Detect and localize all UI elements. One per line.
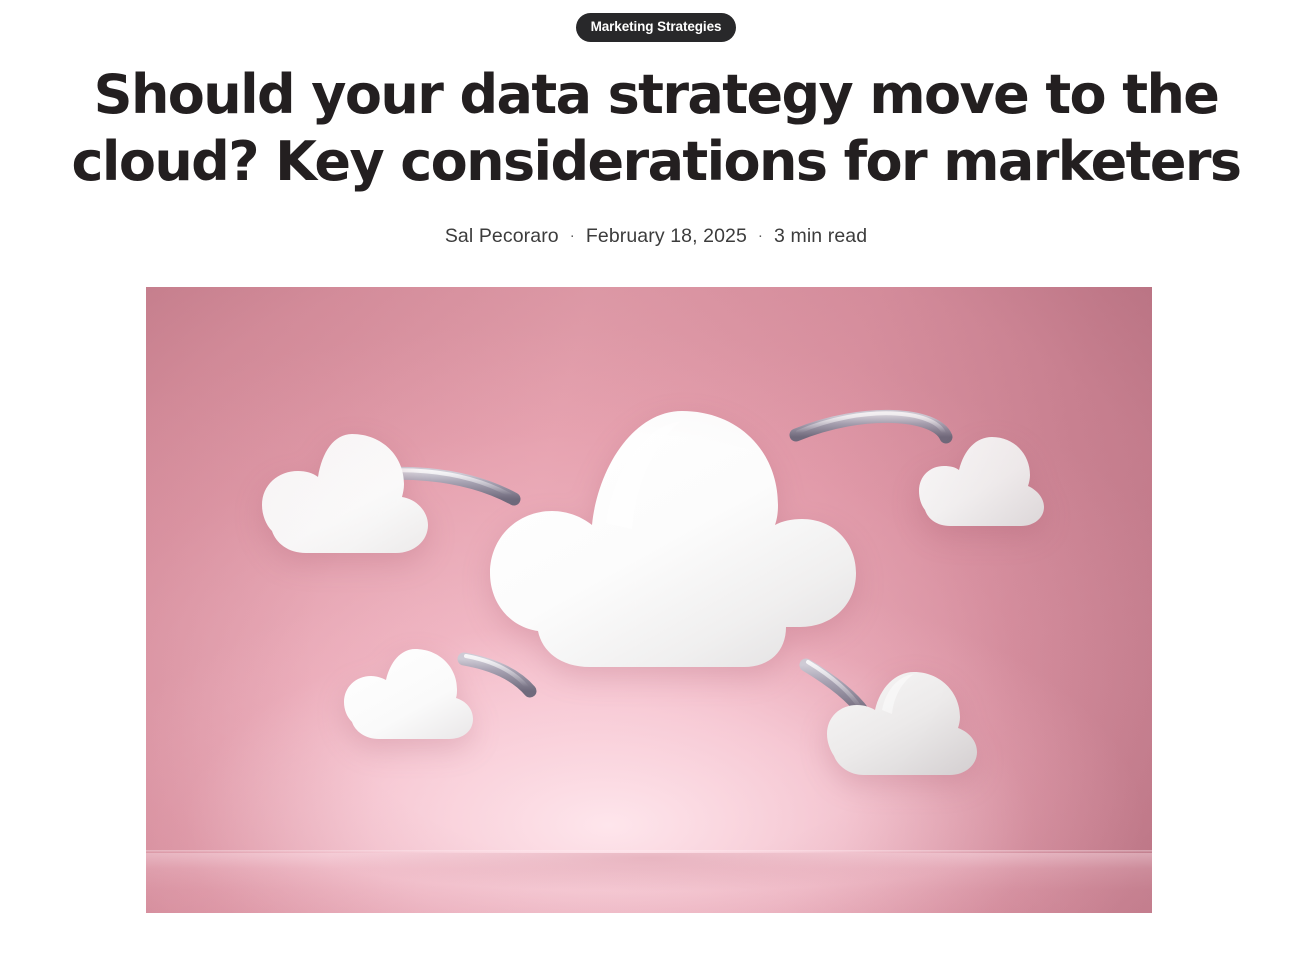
publish-date: February 18, 2025: [586, 227, 747, 247]
byline-separator-1: ·: [570, 228, 575, 243]
byline-separator-2: ·: [758, 228, 763, 243]
article-header-page: Marketing Strategies Should your data st…: [0, 0, 1312, 954]
category-badge[interactable]: Marketing Strategies: [576, 13, 737, 42]
page-title: Should your data strategy move to the cl…: [0, 62, 1312, 196]
cloud-lower-left: [339, 645, 479, 745]
read-time: 3 min read: [774, 227, 867, 247]
byline: Sal Pecoraro · February 18, 2025 · 3 min…: [0, 227, 1312, 247]
hero-image: [146, 287, 1152, 913]
cloud-left: [258, 429, 434, 563]
cloud-upper-right: [914, 433, 1050, 531]
category-badge-row: Marketing Strategies: [0, 13, 1312, 42]
cloud-center: [486, 405, 858, 683]
cloud-lower-right: [822, 668, 984, 782]
author-name[interactable]: Sal Pecoraro: [445, 227, 559, 247]
